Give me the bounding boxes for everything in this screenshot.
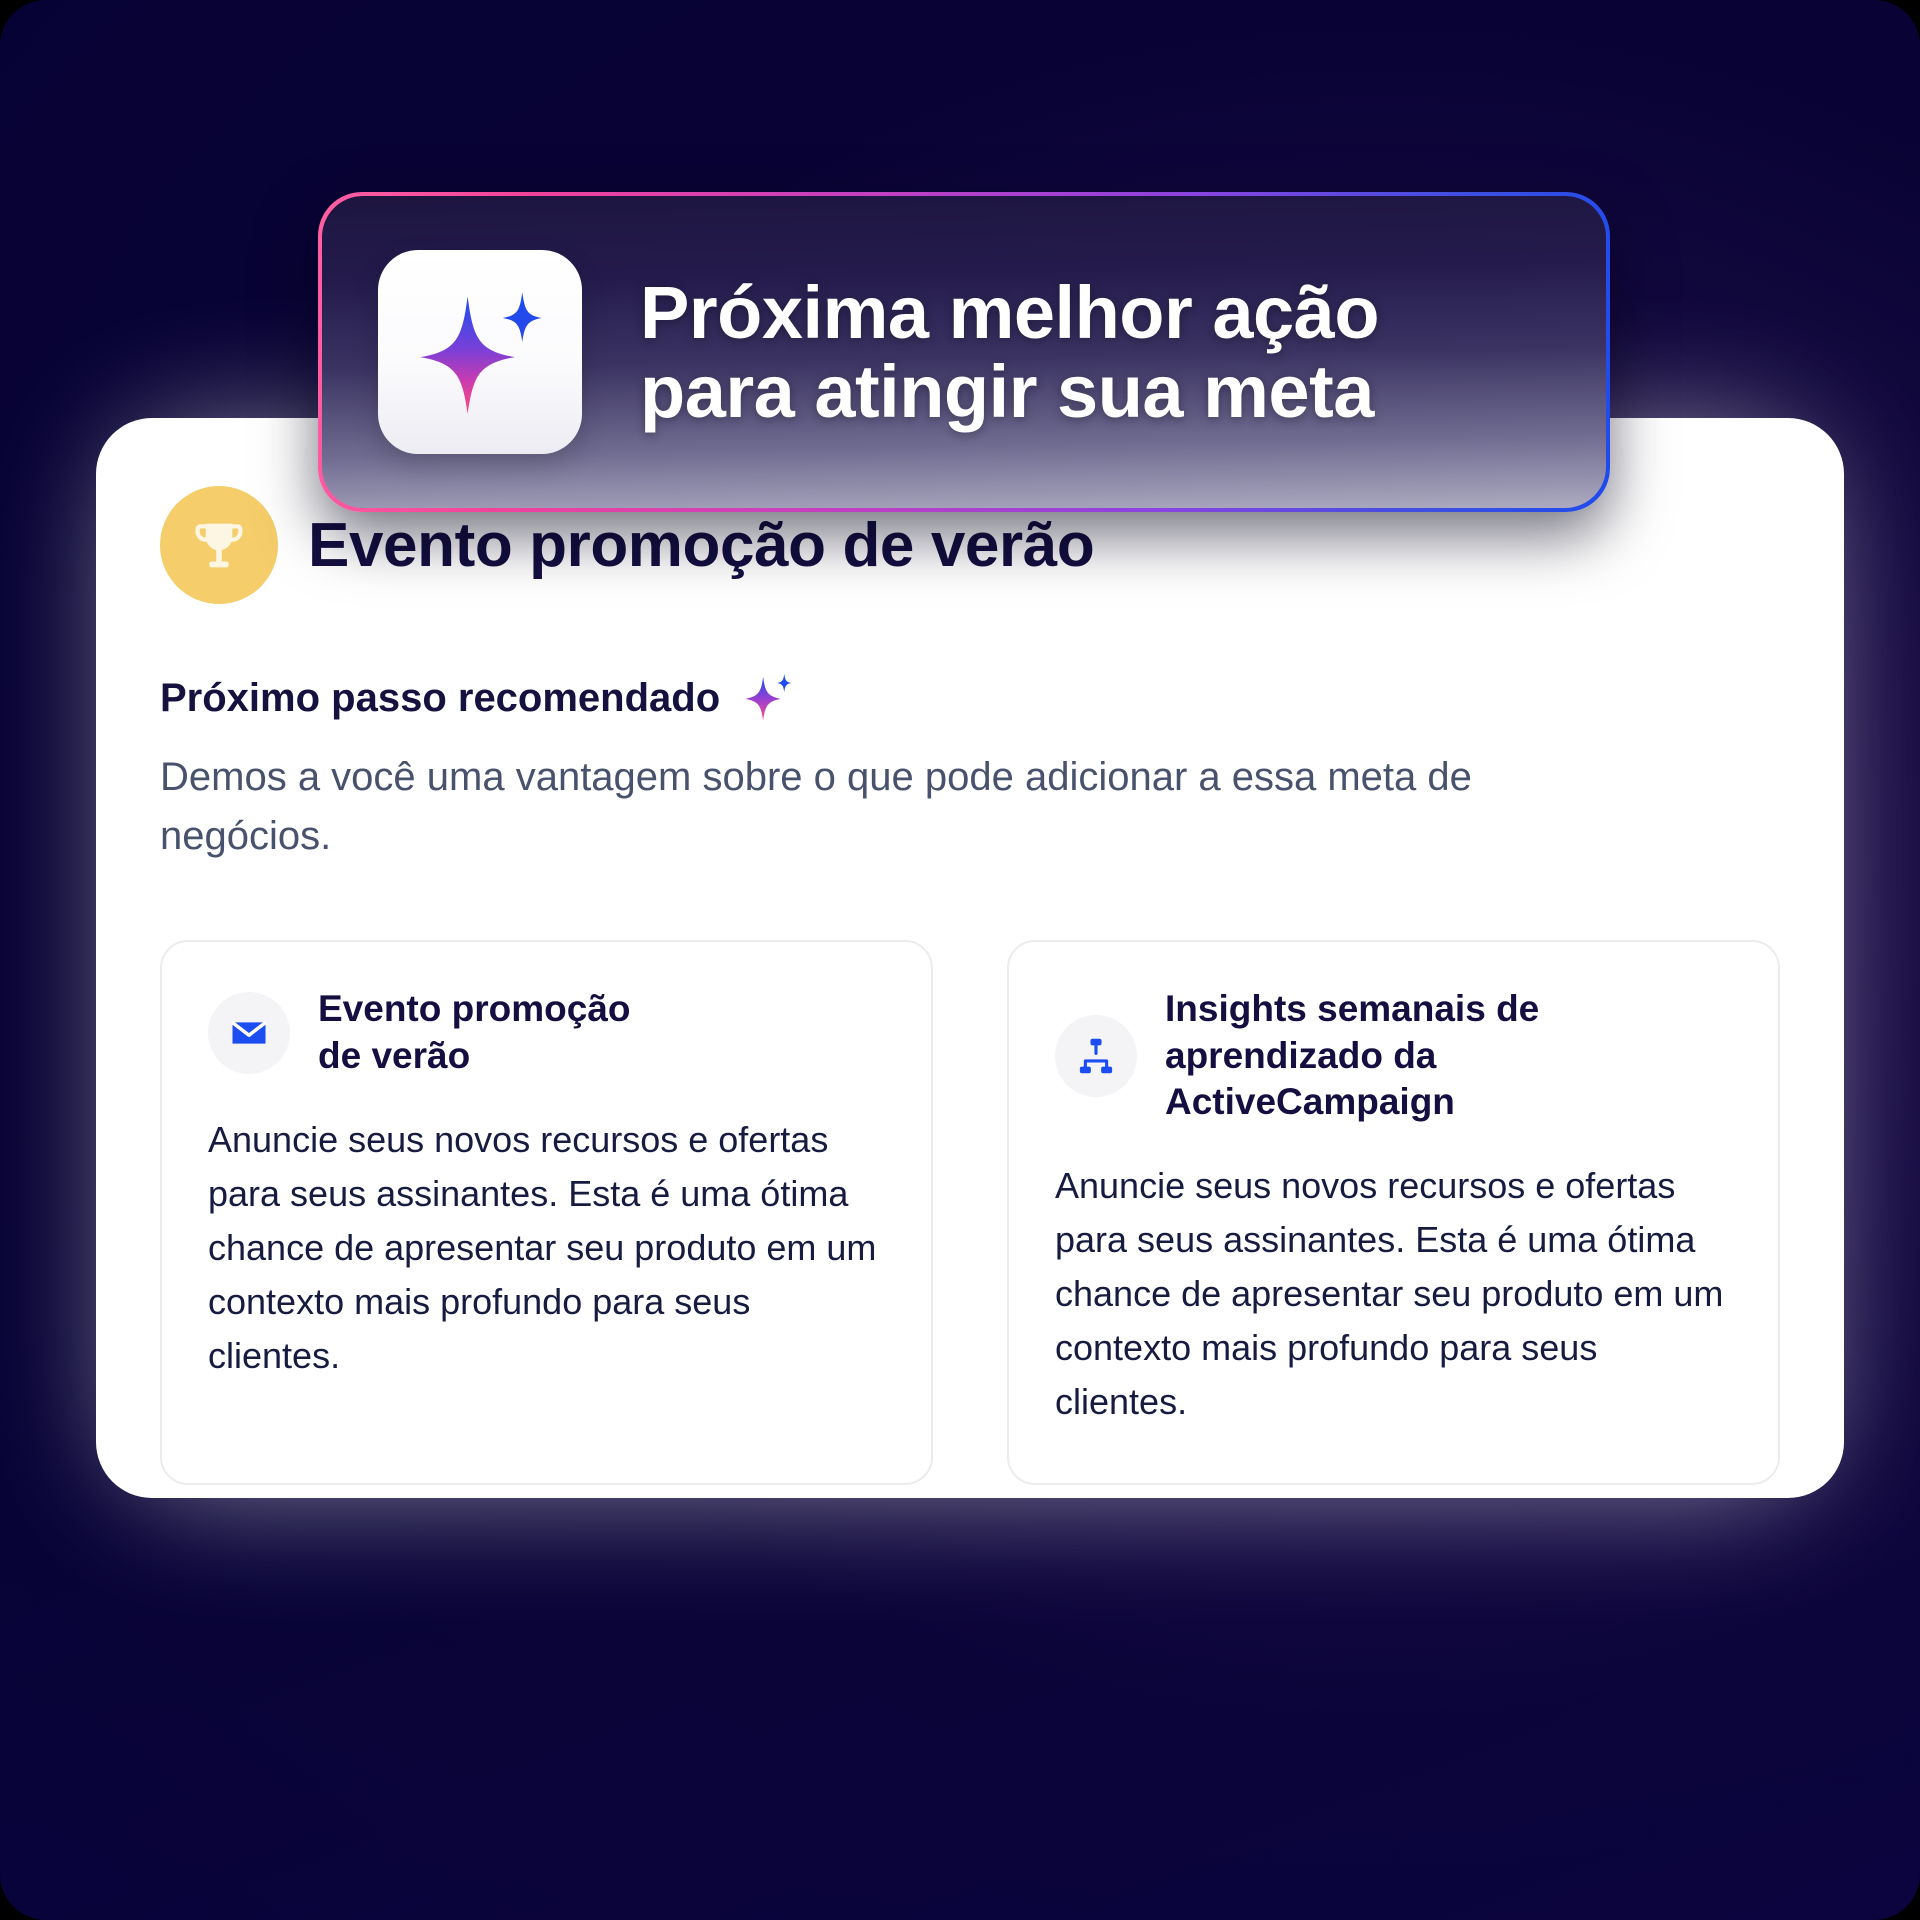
suggestion-title: Evento promoção de verão [318,986,631,1079]
card-content: Evento promoção de verão Próximo passo r… [96,418,1844,1498]
trophy-icon [160,486,278,604]
next-best-action-card: Evento promoção de verão Próximo passo r… [96,418,1844,1498]
app-root: Evento promoção de verão Próximo passo r… [0,0,1920,1920]
suggestion-card-email[interactable]: Evento promoção de verão Anuncie seus no… [160,940,933,1485]
next-step-header: Próximo passo recomendado [160,672,1780,724]
page-title: Evento promoção de verão [308,510,1094,581]
ai-sparkle-small-icon [742,672,794,724]
suggestion-card-insights[interactable]: Insights semanais de aprendizado da Acti… [1007,940,1780,1485]
suggestion-header: Evento promoção de verão [208,986,885,1079]
suggestion-header: Insights semanais de aprendizado da Acti… [1055,986,1732,1125]
next-step-label: Próximo passo recomendado [160,676,720,721]
banner-inner: Próxima melhor ação para atingir sua met… [322,196,1606,508]
suggestion-body: Anuncie seus novos recursos e ofertas pa… [1055,1159,1732,1429]
next-best-action-banner: Próxima melhor ação para atingir sua met… [318,192,1610,512]
suggestion-list: Evento promoção de verão Anuncie seus no… [160,940,1780,1485]
sitemap-icon [1055,1015,1137,1097]
ai-sparkle-icon [378,250,582,454]
banner-title: Próxima melhor ação para atingir sua met… [640,273,1379,431]
suggestion-title: Insights semanais de aprendizado da Acti… [1165,986,1732,1125]
suggestion-body: Anuncie seus novos recursos e ofertas pa… [208,1113,885,1383]
next-step-description: Demos a você uma vantagem sobre o que po… [160,748,1600,866]
envelope-icon [208,992,290,1074]
